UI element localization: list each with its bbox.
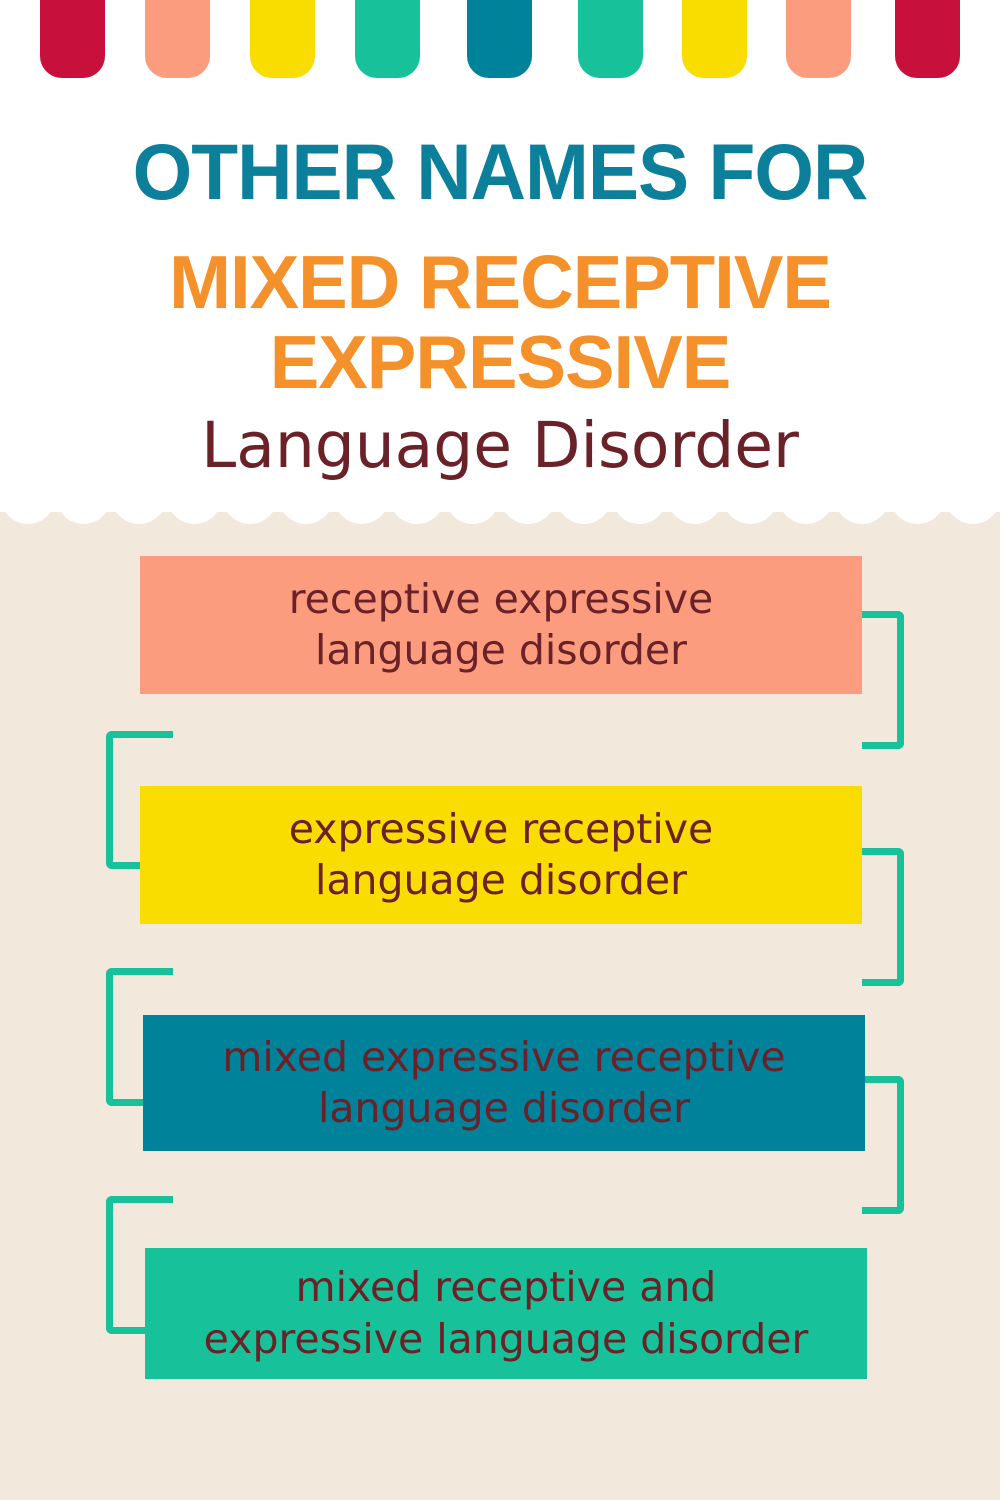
name-box-2-text: expressive receptive language disorder	[289, 804, 714, 907]
scallop	[389, 484, 445, 524]
scallop	[56, 484, 112, 524]
name-box-4-text: mixed receptive and expressive language …	[204, 1262, 809, 1365]
name-box-3-line2: language disorder	[318, 1084, 690, 1132]
scallop	[111, 484, 167, 524]
name-box-3[interactable]: mixed expressive receptive language diso…	[143, 1015, 865, 1151]
connector-3-4-right	[862, 1076, 904, 1214]
connector-1-2-right	[862, 611, 904, 749]
banner-strip	[250, 0, 315, 78]
scallop	[445, 484, 501, 524]
footer: FIRST WORDS DANCE PARTY	[0, 1390, 1000, 1500]
banner-strip	[786, 0, 851, 78]
scallop	[222, 484, 278, 524]
scallop	[945, 484, 1000, 524]
name-box-4[interactable]: mixed receptive and expressive language …	[145, 1248, 867, 1379]
banner-strip	[467, 0, 532, 78]
banner-strip	[682, 0, 747, 78]
connector-2-3-right	[862, 848, 904, 986]
name-box-2-line1: expressive receptive	[289, 805, 714, 853]
scallop	[612, 484, 668, 524]
scallop	[667, 484, 723, 524]
name-box-3-line1: mixed expressive receptive	[222, 1033, 785, 1081]
scallop	[500, 484, 556, 524]
name-box-4-line2: expressive language disorder	[204, 1315, 809, 1363]
page-title-line1: OTHER NAMES FOR	[15, 132, 985, 211]
scallop	[890, 484, 946, 524]
infographic-poster: OTHER NAMES FOR MIXED RECEPTIVE EXPRESSI…	[0, 0, 1000, 1500]
banner-strip	[145, 0, 210, 78]
scallop	[167, 484, 223, 524]
scallop	[278, 484, 334, 524]
page-subtitle: Language Disorder	[0, 414, 1000, 477]
banner-strip	[355, 0, 420, 78]
top-banner	[0, 0, 1000, 80]
scalloped-divider	[0, 484, 1000, 524]
scallop	[834, 484, 890, 524]
name-box-1-line1: receptive expressive	[289, 575, 714, 623]
name-box-2-line2: language disorder	[315, 856, 687, 904]
banner-strip	[40, 0, 105, 78]
scallop	[0, 484, 56, 524]
scallop	[723, 484, 779, 524]
name-box-1-line2: language disorder	[315, 626, 687, 674]
name-box-4-line1: mixed receptive and	[296, 1263, 717, 1311]
scallop	[334, 484, 390, 524]
name-box-2[interactable]: expressive receptive language disorder	[140, 786, 862, 924]
scallop	[778, 484, 834, 524]
scallop	[556, 484, 612, 524]
banner-strip	[895, 0, 960, 78]
page-title-line2: MIXED RECEPTIVE EXPRESSIVE	[5, 243, 995, 402]
banner-strip	[578, 0, 643, 78]
name-box-3-text: mixed expressive receptive language diso…	[222, 1032, 785, 1135]
header-panel: OTHER NAMES FOR MIXED RECEPTIVE EXPRESSI…	[0, 0, 1000, 512]
name-box-1[interactable]: receptive expressive language disorder	[140, 556, 862, 694]
name-box-1-text: receptive expressive language disorder	[289, 574, 714, 677]
